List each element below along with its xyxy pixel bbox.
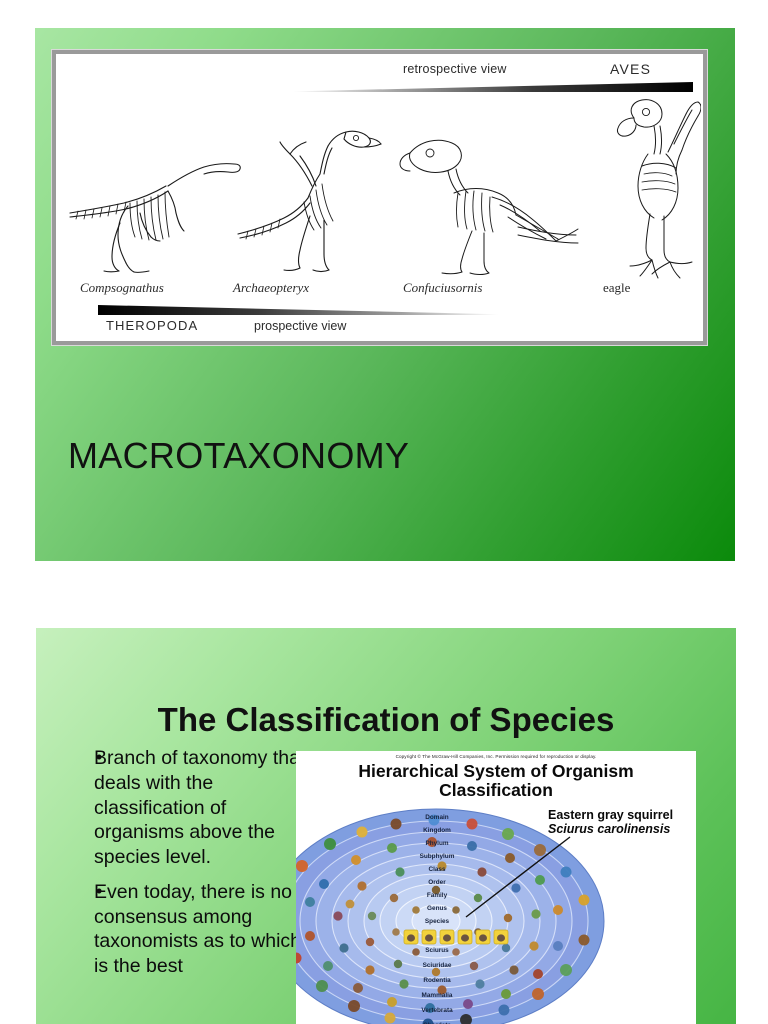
figure-title-line-2: Classification [296, 781, 696, 800]
callout-scientific-name: Sciurus carolinensis [548, 822, 673, 836]
specimen-label-confuciusornis: Confuciusornis [403, 280, 482, 296]
concentric-rings-diagram [296, 806, 606, 1024]
figure-title-line-1: Hierarchical System of Organism [296, 762, 696, 781]
label-aves: AVES [610, 61, 651, 77]
label-theropoda: THEROPODA [106, 318, 198, 333]
label-prospective-view: prospective view [254, 319, 346, 333]
skeleton-eagle [598, 96, 701, 286]
slide-macrotaxonomy: retrospective view AVES [35, 28, 735, 561]
figure-frame-theropod-series: retrospective view AVES [52, 50, 707, 345]
slide-classification-of-species: The Classification of Species Branch of … [36, 628, 736, 1024]
figure-canvas: retrospective view AVES [58, 56, 701, 339]
specimen-label-eagle: eagle [603, 280, 630, 296]
skeleton-confuciusornis [388, 131, 588, 279]
retrospective-view-wedge-icon [293, 82, 693, 92]
species-callout: Eastern gray squirrel Sciurus carolinens… [548, 808, 673, 836]
figure-title: Hierarchical System of Organism Classifi… [296, 762, 696, 800]
specimen-label-compsognathus: Compsognathus [80, 280, 164, 296]
prospective-view-wedge-icon [98, 305, 498, 315]
callout-common-name: Eastern gray squirrel [548, 808, 673, 822]
skeleton-compsognathus [68, 151, 243, 276]
figure-copyright-notice: Copyright © The McGraw-Hill Companies, I… [296, 754, 696, 759]
slides-page: retrospective view AVES [0, 0, 768, 1024]
label-retrospective-view: retrospective view [403, 62, 507, 76]
figure-hierarchical-classification: Copyright © The McGraw-Hill Companies, I… [296, 751, 696, 1024]
slide2-bullet-list: Branch of taxonomy that deals with the c… [74, 746, 306, 989]
list-item: Even today, there is no consensus among … [94, 880, 306, 979]
specimen-label-archaeopteryx: Archaeopteryx [233, 280, 309, 296]
list-item: Branch of taxonomy that deals with the c… [94, 746, 306, 870]
slide2-title: The Classification of Species [36, 701, 736, 739]
skeleton-archaeopteryx [236, 124, 386, 276]
slide1-title: MACROTAXONOMY [68, 435, 409, 477]
